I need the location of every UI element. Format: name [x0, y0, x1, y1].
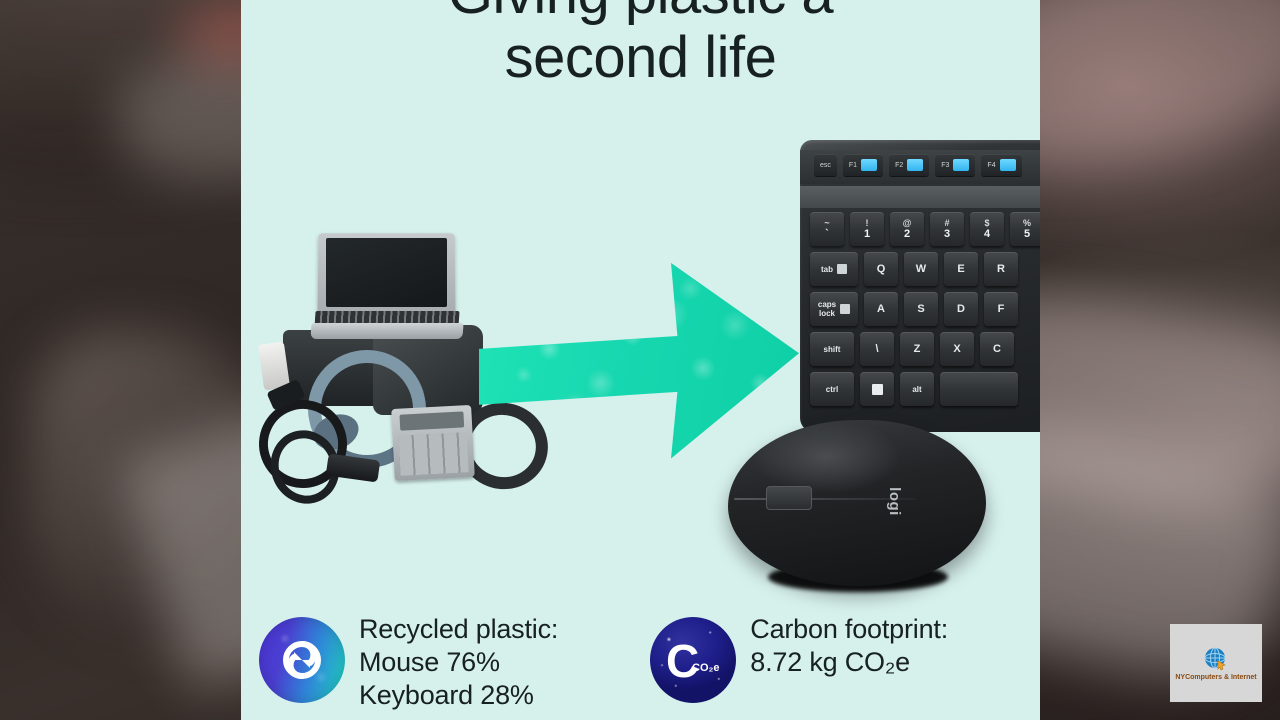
stat-carbon-footprint: C CO₂e Carbon footprint: 8.72 kg CO₂e	[650, 611, 1022, 712]
key-z: Z	[900, 332, 934, 366]
mouse-brand-label: logi	[886, 487, 903, 516]
recycled-plastic-text: Recycled plastic: Mouse 76% Keyboard 28%	[359, 611, 558, 712]
key-3: # 3	[930, 212, 964, 246]
key-2-bottom: 2	[904, 229, 910, 240]
keyboard-modifier-row: ctrl alt	[810, 372, 1040, 406]
key-3-bottom: 3	[944, 229, 950, 240]
title-line-2: second life	[241, 26, 1040, 90]
caps-lock-indicator-icon	[840, 304, 850, 314]
calculator-keys	[399, 432, 469, 476]
keyboard-asdf-row: caps lock A S D F	[810, 292, 1040, 326]
carbon-c-icon: C CO₂e	[662, 631, 724, 689]
key-f3: F3	[935, 154, 975, 176]
video-frame-stage: Giving plastic a second life	[0, 0, 1280, 720]
globe-icon	[1203, 646, 1229, 672]
nycomputers-watermark: NYComputers & Internet	[1170, 624, 1262, 702]
key-4-bottom: 4	[984, 229, 990, 240]
key-tab-label: tab	[821, 265, 833, 274]
recycled-plastic-line-1: Recycled plastic:	[359, 613, 558, 646]
keyboard-deck	[800, 186, 1040, 208]
key-esc-label: esc	[820, 162, 831, 169]
carbon-footprint-line-1: Carbon footprint:	[750, 613, 948, 646]
keyboard-function-row: esc F1 F2 F3 F4	[814, 154, 1022, 176]
key-tilde-bottom: `	[825, 229, 829, 240]
logitech-keyboard: esc F1 F2 F3 F4	[800, 140, 1040, 432]
recycled-plastic-line-2: Mouse 76%	[359, 646, 558, 679]
stat-recycled-plastic: Recycled plastic: Mouse 76% Keyboard 28%	[259, 611, 650, 712]
recycled-plastic-badge	[259, 617, 345, 703]
watermark-label: NYComputers & Internet	[1175, 674, 1256, 681]
key-a: A	[864, 292, 898, 326]
key-caps-lock: caps lock	[810, 292, 858, 326]
key-ctrl: ctrl	[810, 372, 854, 406]
key-f1-label: F1	[849, 162, 857, 169]
recycle-icon	[276, 634, 328, 686]
carbon-badge-main-glyph: C	[666, 635, 699, 687]
page-title: Giving plastic a second life	[241, 0, 1040, 90]
laptop-base	[310, 323, 463, 339]
keyboard-key-rows: ~ ` ! 1 @ 2 # 3	[810, 212, 1040, 412]
windows-logo-icon	[872, 384, 883, 395]
key-q: Q	[864, 252, 898, 286]
caps-lock-label: caps lock	[818, 300, 836, 318]
key-space	[940, 372, 1018, 406]
key-5: % 5	[1010, 212, 1040, 246]
recycled-plastic-line-3: Keyboard 28%	[359, 679, 558, 712]
carbon-footprint-text: Carbon footprint: 8.72 kg CO₂e	[750, 611, 948, 679]
key-r: R	[984, 252, 1018, 286]
key-esc: esc	[814, 154, 837, 176]
keyboard-number-row: ~ ` ! 1 @ 2 # 3	[810, 212, 1040, 246]
key-alt: alt	[900, 372, 934, 406]
mouse-scroll-wheel	[766, 486, 812, 510]
key-f4-label: F4	[987, 162, 995, 169]
content-panel: Giving plastic a second life	[241, 0, 1040, 720]
key-tilde: ~ `	[810, 212, 844, 246]
tab-arrow-icon	[837, 264, 847, 274]
key-backslash: \	[860, 332, 894, 366]
key-tab: tab	[810, 252, 858, 286]
keyboard-zxc-row: shift \ Z X C	[810, 332, 1040, 366]
f3-media-icon	[953, 159, 969, 171]
keyboard-qwer-row: tab Q W E R	[810, 252, 1040, 286]
title-line-1: Giving plastic a	[241, 0, 1040, 26]
key-f2-label: F2	[895, 162, 903, 169]
calculator-icon	[391, 405, 475, 481]
key-4: $ 4	[970, 212, 1004, 246]
globe-icon-svg	[1203, 646, 1229, 672]
key-windows	[860, 372, 894, 406]
calculator-display	[399, 411, 464, 430]
key-c: C	[980, 332, 1014, 366]
key-w: W	[904, 252, 938, 286]
key-f4: F4	[981, 154, 1021, 176]
key-1: ! 1	[850, 212, 884, 246]
key-1-bottom: 1	[864, 229, 870, 240]
key-f3-label: F3	[941, 162, 949, 169]
key-x: X	[940, 332, 974, 366]
stats-row: Recycled plastic: Mouse 76% Keyboard 28%…	[241, 611, 1040, 712]
key-5-bottom: 5	[1024, 229, 1030, 240]
f2-media-icon	[907, 159, 923, 171]
key-f2: F2	[889, 154, 929, 176]
key-f1: F1	[843, 154, 883, 176]
carbon-badge-sub-glyph: CO₂e	[692, 662, 720, 674]
carbon-footprint-badge: C CO₂e	[650, 617, 736, 703]
laptop-screen	[326, 238, 447, 307]
key-e: E	[944, 252, 978, 286]
carbon-footprint-line-2: 8.72 kg CO₂e	[750, 646, 948, 679]
key-shift: shift	[810, 332, 854, 366]
caps-label-line1: caps	[818, 300, 836, 309]
key-f: F	[984, 292, 1018, 326]
mouse-body: logi	[728, 420, 986, 586]
key-2: @ 2	[890, 212, 924, 246]
f1-media-icon	[861, 159, 877, 171]
key-s: S	[904, 292, 938, 326]
f4-media-icon	[1000, 159, 1016, 171]
key-d: D	[944, 292, 978, 326]
logitech-mouse: logi	[728, 420, 986, 586]
caps-label-line2: lock	[819, 309, 835, 318]
